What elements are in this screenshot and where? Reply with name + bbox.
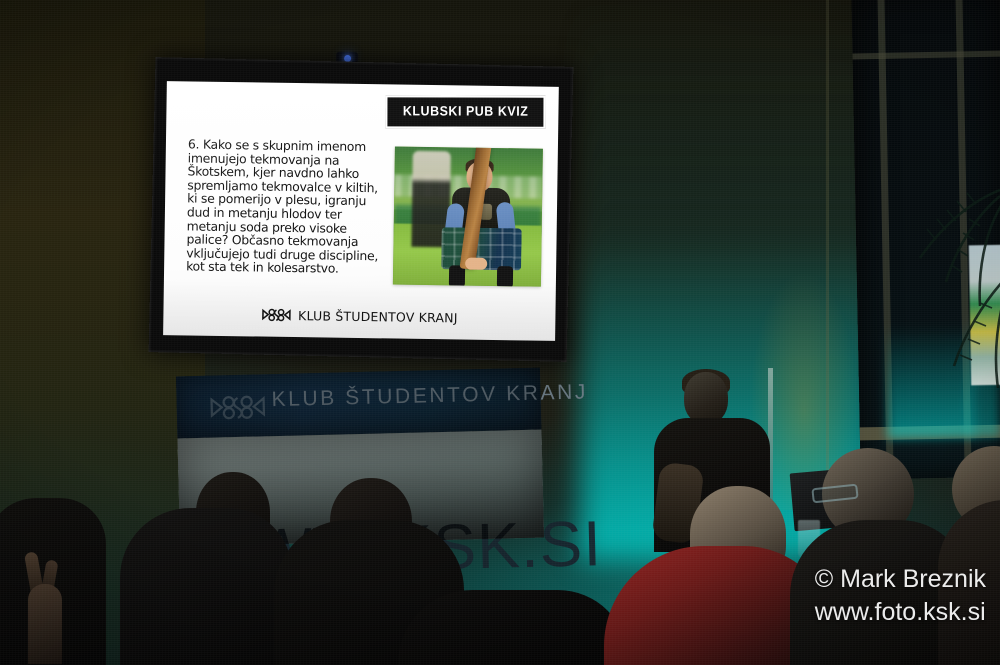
banner-top-panel: KLUB ŠTUDENTOV KRANJ xyxy=(176,368,541,439)
audience-silhouette xyxy=(120,508,292,665)
slide-footer-brand: KLUB ŠTUDENTOV KRANJ xyxy=(298,308,458,325)
ksk-bowtie-logo-icon xyxy=(208,390,267,423)
wall-corner-edge xyxy=(826,0,829,500)
projection-screen: KLUBSKI PUB KVIZ 6. Kako se s skupnim im… xyxy=(149,57,574,362)
watermark-line-1: © Mark Breznik xyxy=(815,563,986,596)
quiz-question-text: 6. Kako se s skupnim imenom imenujejo te… xyxy=(186,137,388,276)
photo-athlete-hands xyxy=(465,258,487,270)
audience-silhouette xyxy=(398,590,628,665)
quiz-title-badge: KLUBSKI PUB KVIZ xyxy=(385,95,545,128)
quiz-slide: KLUBSKI PUB KVIZ 6. Kako se s skupnim im… xyxy=(163,81,559,341)
raised-hand xyxy=(18,546,80,664)
palm xyxy=(28,584,62,664)
banner-brand-text: KLUB ŠTUDENTOV KRANJ xyxy=(271,380,588,412)
presenter-head xyxy=(684,372,728,424)
photo-athlete-leg-right xyxy=(497,266,513,287)
quiz-title-badge-label: KLUBSKI PUB KVIZ xyxy=(403,103,528,118)
window-transom xyxy=(853,51,1000,60)
watermark-line-2: www.foto.ksk.si xyxy=(815,596,986,629)
slide-footer: KLUB ŠTUDENTOV KRANJ xyxy=(163,304,555,328)
photograph-scene: KLUB ŠTUDENTOV KRANJ WWW.KSK.SI KLUBSKI … xyxy=(0,0,1000,665)
ksk-bowtie-logo-icon xyxy=(261,306,291,324)
photographer-watermark: © Mark Breznik www.foto.ksk.si xyxy=(815,563,986,629)
palm-plant-icon xyxy=(880,130,1000,420)
highland-games-photo xyxy=(393,146,543,286)
